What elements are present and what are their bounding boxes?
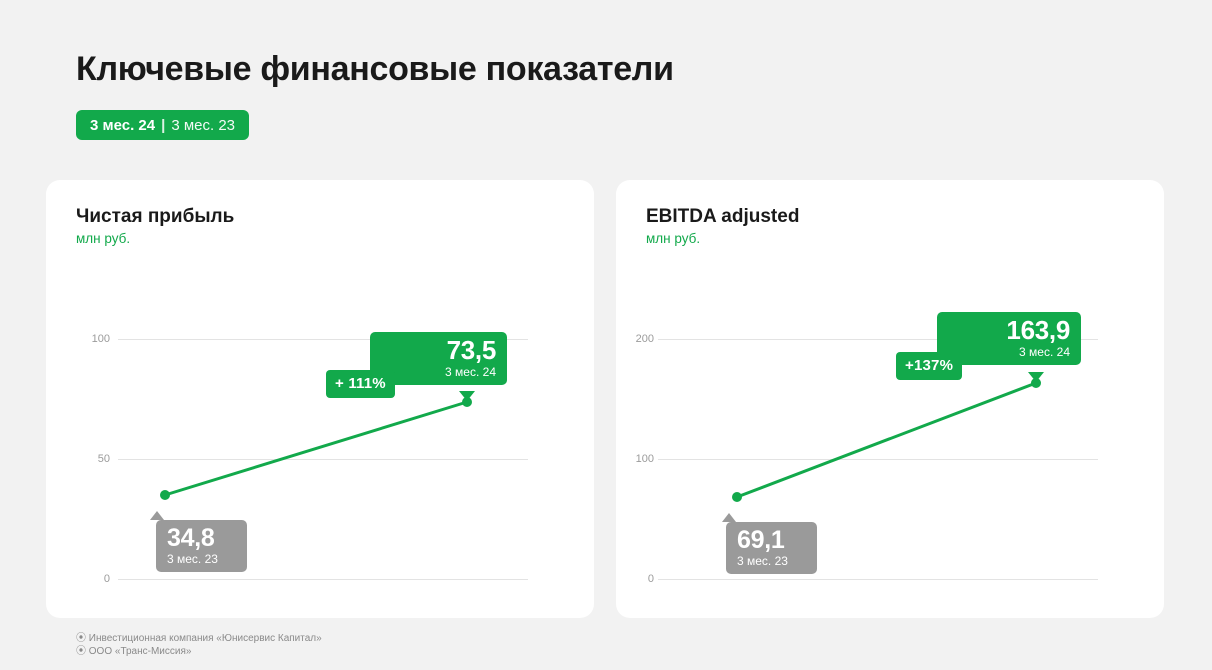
plot-area-ebitda: 0 100 200 69,1 3 мес. 23 163,9 3 мес. 24 bbox=[616, 180, 1164, 618]
data-label-value: 163,9 bbox=[948, 317, 1070, 344]
growth-badge-ebitda: +137% bbox=[896, 352, 962, 380]
label-tail-net-profit-prev bbox=[150, 511, 164, 520]
data-label-value: 73,5 bbox=[381, 337, 496, 364]
data-label-period: 3 мес. 23 bbox=[167, 553, 236, 566]
growth-badge-net-profit: + 111% bbox=[326, 370, 395, 398]
data-label-period: 3 мес. 24 bbox=[948, 346, 1070, 359]
data-label-net-profit-prev: 34,8 3 мес. 23 bbox=[156, 520, 247, 572]
footnote-2: ⦿ ООО «Транс-Миссия» bbox=[76, 645, 322, 658]
chart-card-net-profit: Чистая прибыль млн руб. 0 50 100 34,8 3 … bbox=[46, 180, 594, 618]
plot-area-net-profit: 0 50 100 34,8 3 мес. 23 73,5 3 мес. 24 bbox=[46, 180, 594, 618]
label-tail-ebitda-prev bbox=[722, 513, 736, 522]
series-line-net-profit bbox=[46, 180, 594, 618]
period-previous: 3 мес. 23 bbox=[171, 117, 235, 134]
period-current: 3 мес. 24 bbox=[90, 117, 155, 134]
page-title: Ключевые финансовые показатели bbox=[76, 50, 674, 89]
series-line-ebitda bbox=[616, 180, 1164, 618]
period-separator: | bbox=[161, 117, 165, 134]
chart-card-ebitda: EBITDA adjusted млн руб. 0 100 200 69,1 … bbox=[616, 180, 1164, 618]
data-label-ebitda-prev: 69,1 3 мес. 23 bbox=[726, 522, 817, 574]
period-badge: 3 мес. 24 | 3 мес. 23 bbox=[76, 110, 249, 140]
data-label-value: 69,1 bbox=[737, 527, 806, 553]
data-label-value: 34,8 bbox=[167, 525, 236, 551]
slide-root: Ключевые финансовые показатели 3 мес. 24… bbox=[0, 0, 1212, 670]
label-tail-ebitda-curr bbox=[1028, 372, 1044, 382]
data-label-period: 3 мес. 24 bbox=[381, 366, 496, 379]
data-label-period: 3 мес. 23 bbox=[737, 555, 806, 568]
label-tail-net-profit-curr bbox=[459, 391, 475, 401]
footnote-1: ⦿ Инвестиционная компания «Юнисервис Кап… bbox=[76, 632, 322, 645]
footnotes: ⦿ Инвестиционная компания «Юнисервис Кап… bbox=[76, 632, 322, 658]
